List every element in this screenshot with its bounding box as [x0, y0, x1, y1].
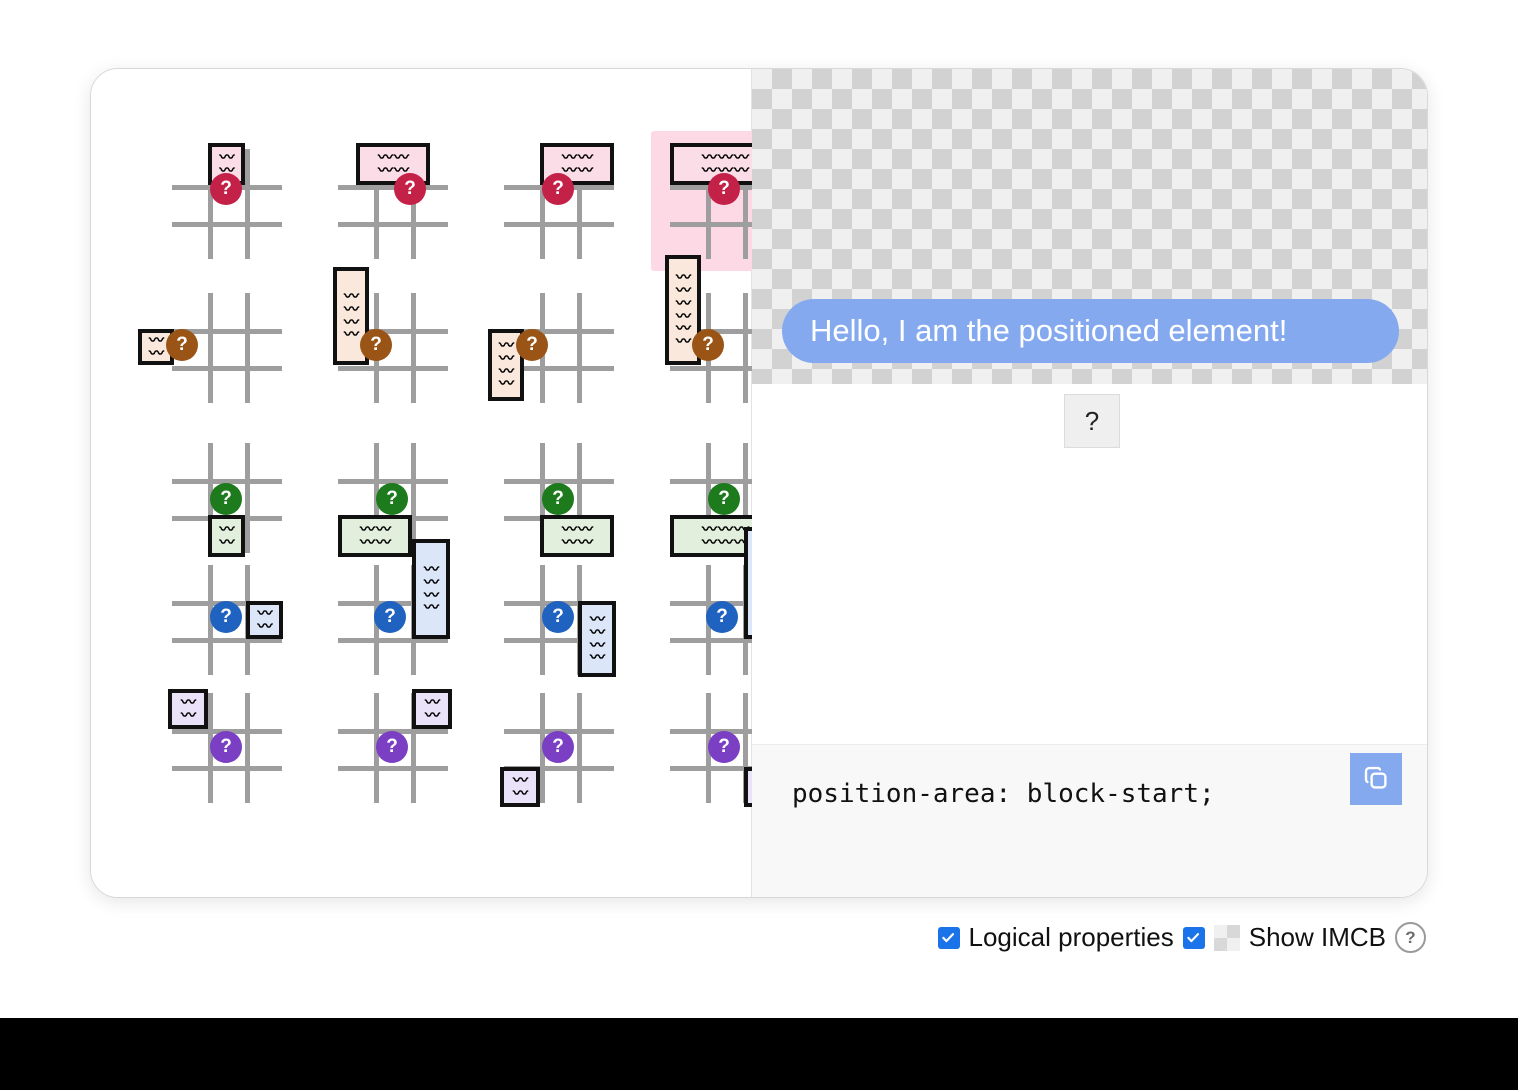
- position-area-option[interactable]: 〰〰?: [319, 675, 467, 793]
- anchor-bubble: ?: [210, 601, 242, 633]
- positioned-element: Hello, I am the positioned element!: [782, 299, 1399, 363]
- grid-line: [577, 693, 582, 803]
- position-area-option[interactable]: 〰〰〰〰?: [319, 273, 467, 423]
- demo-card: 〰〰?〰〰〰〰?〰〰〰〰?〰〰〰〰〰〰?〰〰?〰〰〰〰?〰〰〰〰?〰〰〰〰〰〰?…: [90, 68, 1428, 898]
- wave-glyph: 〰: [344, 329, 358, 340]
- wave-glyph: 〰: [257, 621, 271, 632]
- anchor-bubble: ?: [542, 601, 574, 633]
- grid-line: [208, 293, 213, 403]
- wave-glyph: 〰: [499, 378, 513, 389]
- anchor-bubble: ?: [166, 329, 198, 361]
- position-area-option[interactable]: 〰〰〰〰?: [319, 545, 467, 673]
- copy-button[interactable]: [1350, 753, 1402, 805]
- code-text: position-area: block-start;: [792, 779, 1215, 809]
- anchor-bubble: ?: [542, 483, 574, 515]
- wave-glyph: 〰: [702, 165, 716, 176]
- positioned-box: 〰〰: [246, 601, 283, 639]
- wave-glyph: 〰: [513, 788, 527, 799]
- grid-line: [504, 222, 614, 227]
- positioned-box: 〰〰〰〰: [412, 539, 450, 639]
- position-area-option[interactable]: 〰〰?: [485, 675, 633, 793]
- position-area-option[interactable]: 〰〰?: [153, 545, 301, 673]
- position-area-option[interactable]: 〰〰〰〰?: [319, 131, 467, 271]
- grid-line: [172, 766, 282, 771]
- anchor-bubble: ?: [210, 731, 242, 763]
- anchor-bubble: ?: [376, 731, 408, 763]
- positioned-box: 〰〰: [500, 767, 540, 807]
- logical-properties-checkbox[interactable]: [938, 927, 960, 949]
- grid-line: [338, 366, 448, 371]
- grid-line: [577, 293, 582, 403]
- position-area-picker-pane: 〰〰?〰〰〰〰?〰〰〰〰?〰〰〰〰〰〰?〰〰?〰〰〰〰?〰〰〰〰?〰〰〰〰〰〰?…: [91, 69, 752, 897]
- anchor-bubble: ?: [516, 329, 548, 361]
- anchor-bubble: ?: [708, 731, 740, 763]
- help-icon-glyph: ?: [1405, 928, 1415, 948]
- wave-glyph: 〰: [578, 165, 592, 176]
- logical-properties-label: Logical properties: [969, 922, 1174, 953]
- grid-line: [172, 222, 282, 227]
- show-imcb-label: Show IMCB: [1249, 922, 1386, 953]
- anchor-bubble: ?: [692, 329, 724, 361]
- grid-line: [338, 185, 448, 190]
- position-area-option[interactable]: 〰〰?: [153, 131, 301, 271]
- anchor-bubble: ?: [210, 483, 242, 515]
- anchor-bubble: ?: [542, 173, 574, 205]
- copy-icon: [1361, 763, 1391, 796]
- position-area-option[interactable]: 〰〰〰〰?: [485, 273, 633, 423]
- grid-line: [743, 293, 748, 403]
- position-area-option[interactable]: 〰〰?: [153, 675, 301, 793]
- position-area-option[interactable]: 〰〰?: [153, 425, 301, 543]
- anchor-bubble: ?: [706, 601, 738, 633]
- position-area-diagram-grid: 〰〰?〰〰〰〰?〰〰〰〰?〰〰〰〰〰〰?〰〰?〰〰〰〰?〰〰〰〰?〰〰〰〰〰〰?…: [153, 131, 799, 793]
- anchor-bubble: ?: [376, 483, 408, 515]
- anchor-bubble: ?: [374, 601, 406, 633]
- wave-glyph: 〰: [590, 652, 604, 663]
- imcb-swatch-icon: [1214, 925, 1240, 951]
- position-area-option[interactable]: 〰〰〰〰?: [319, 425, 467, 543]
- anchor-bubble: ?: [360, 329, 392, 361]
- position-area-option[interactable]: 〰〰〰〰?: [485, 425, 633, 543]
- show-imcb-checkbox[interactable]: [1183, 927, 1205, 949]
- grid-line: [338, 766, 448, 771]
- wave-glyph: 〰: [149, 348, 163, 359]
- wave-glyph: 〰: [378, 165, 392, 176]
- position-area-option[interactable]: 〰〰?: [153, 273, 301, 423]
- anchor-bubble: ?: [708, 173, 740, 205]
- wave-glyph: 〰: [181, 710, 195, 721]
- anchor-bubble: ?: [708, 483, 740, 515]
- position-area-option[interactable]: 〰〰〰〰?: [485, 131, 633, 271]
- grid-line: [411, 293, 416, 403]
- anchor-element-label: ?: [1085, 406, 1099, 437]
- positioned-box: 〰〰: [412, 689, 452, 729]
- grid-line: [338, 222, 448, 227]
- footer-controls: Logical properties Show IMCB ?: [0, 922, 1426, 953]
- wave-glyph: 〰: [425, 710, 439, 721]
- position-area-option[interactable]: 〰〰〰〰?: [485, 545, 633, 673]
- anchor-element[interactable]: ?: [1064, 394, 1120, 448]
- grid-line: [245, 443, 250, 553]
- grid-line: [245, 693, 250, 803]
- code-block: position-area: block-start;: [752, 744, 1427, 897]
- preview-pane: Hello, I am the positioned element! ? po…: [752, 69, 1427, 897]
- anchor-bubble: ?: [394, 173, 426, 205]
- grid-line: [245, 149, 250, 259]
- wave-glyph: 〰: [424, 602, 438, 613]
- positioned-box: 〰〰〰〰: [578, 601, 616, 677]
- wave-glyph: 〰: [676, 336, 690, 347]
- bottom-strip: [0, 1018, 1518, 1090]
- positioned-element-label: Hello, I am the positioned element!: [810, 313, 1287, 349]
- help-icon[interactable]: ?: [1395, 922, 1426, 953]
- anchor-bubble: ?: [210, 173, 242, 205]
- anchor-bubble: ?: [542, 731, 574, 763]
- positioned-box: 〰〰: [168, 689, 208, 729]
- grid-line: [245, 293, 250, 403]
- wave-glyph: 〰: [734, 165, 748, 176]
- grid-line: [172, 366, 282, 371]
